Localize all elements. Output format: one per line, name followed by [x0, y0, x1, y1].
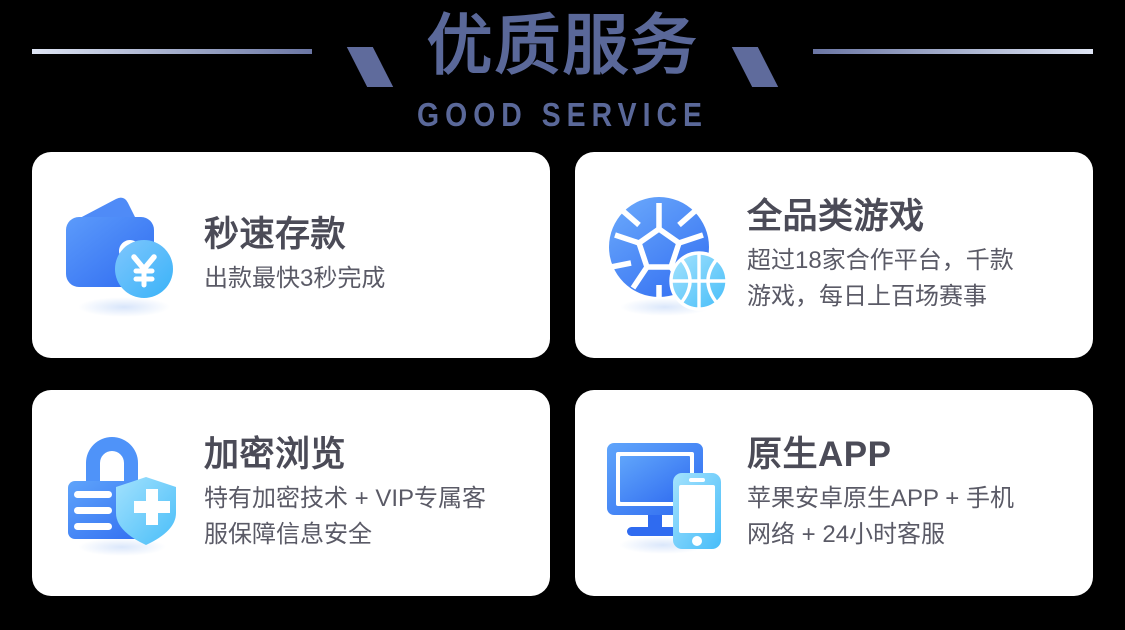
card-description: 超过18家合作平台，千款 游戏，每日上百场赛事: [747, 243, 1075, 315]
good-service-panel: 优质服务 GOOD SERVICE: [0, 0, 1125, 630]
card-text-block: 加密浏览 特有加密技术 + VIP专属客 服保障信息安全: [204, 433, 532, 553]
card-title: 秒速存款: [204, 213, 532, 257]
card-title: 全品类游戏: [747, 195, 1075, 239]
monitor-phone-icon: [601, 427, 733, 559]
feature-card-deposit[interactable]: 秒速存款 出款最快3秒完成: [32, 152, 550, 358]
card-description-line: 出款最快3秒完成: [204, 261, 532, 297]
feature-card-native-app[interactable]: 原生APP 苹果安卓原生APP + 手机 网络 + 24小时客服: [575, 390, 1093, 596]
page-title: 优质服务: [0, 6, 1125, 84]
card-description: 出款最快3秒完成: [204, 261, 532, 297]
card-description-line: 游戏，每日上百场赛事: [747, 279, 1075, 315]
card-description-line: 网络 + 24小时客服: [747, 517, 1075, 553]
card-text-block: 原生APP 苹果安卓原生APP + 手机 网络 + 24小时客服: [747, 433, 1075, 553]
feature-card-encryption[interactable]: 加密浏览 特有加密技术 + VIP专属客 服保障信息安全: [32, 390, 550, 596]
card-text-block: 全品类游戏 超过18家合作平台，千款 游戏，每日上百场赛事: [747, 195, 1075, 315]
feature-card-grid: 秒速存款 出款最快3秒完成: [32, 152, 1093, 596]
soccer-basketball-icon: [601, 189, 733, 321]
card-description-line: 服保障信息安全: [204, 517, 532, 553]
feature-card-games[interactable]: 全品类游戏 超过18家合作平台，千款 游戏，每日上百场赛事: [575, 152, 1093, 358]
card-title: 原生APP: [747, 433, 1075, 477]
card-text-block: 秒速存款 出款最快3秒完成: [204, 213, 532, 297]
lock-shield-icon: [58, 427, 190, 559]
card-description-line: 超过18家合作平台，千款: [747, 243, 1075, 279]
card-description: 特有加密技术 + VIP专属客 服保障信息安全: [204, 481, 532, 553]
section-header: 优质服务 GOOD SERVICE: [0, 0, 1125, 145]
card-description: 苹果安卓原生APP + 手机 网络 + 24小时客服: [747, 481, 1075, 553]
card-description-line: 特有加密技术 + VIP专属客: [204, 481, 532, 517]
card-title: 加密浏览: [204, 433, 532, 477]
page-subtitle: GOOD SERVICE: [79, 96, 1047, 134]
wallet-yen-icon: [58, 189, 190, 321]
card-description-line: 苹果安卓原生APP + 手机: [747, 481, 1075, 517]
